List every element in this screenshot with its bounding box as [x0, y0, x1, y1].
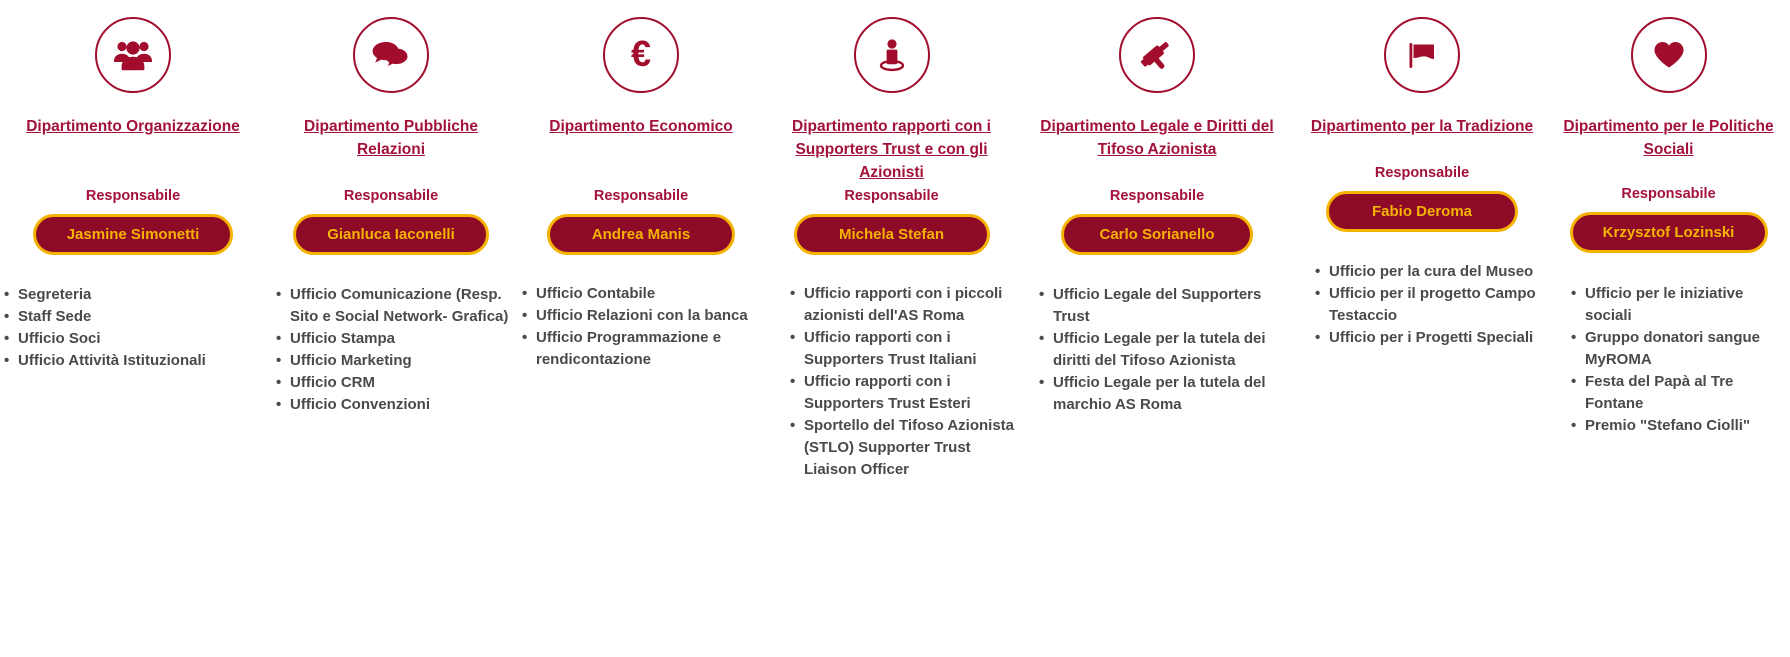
list-item: Ufficio per i Progetti Speciali [1313, 327, 1541, 349]
department-column-legale: Dipartimento Legale e Diritti del Tifoso… [1017, 0, 1297, 657]
manager-pill-3[interactable]: Andrea Manis [547, 214, 735, 255]
list-item: Ufficio Programmazione e rendicontazione [520, 327, 764, 371]
offices-list-3: Ufficio Contabile Ufficio Relazioni con … [516, 283, 766, 371]
responsabile-label-2: Responsabile [266, 187, 516, 205]
speech-bubbles-icon [353, 17, 429, 93]
icon-wrap-1 [0, 0, 266, 110]
offices-list-6: Ufficio per la cura del Museo Ufficio pe… [1297, 261, 1547, 349]
responsabile-label-6: Responsabile [1297, 164, 1547, 182]
responsabile-label-1: Responsabile [0, 187, 266, 205]
responsabile-label-7: Responsabile [1547, 185, 1790, 203]
people-group-icon [95, 17, 171, 93]
department-column-supporters-trust: Dipartimento rapporti con i Supporters T… [766, 0, 1017, 657]
list-item: Ufficio Legale per la tutela del marchio… [1037, 372, 1289, 416]
list-item: Ufficio Convenzioni [274, 394, 510, 416]
list-item: Ufficio Soci [2, 328, 266, 350]
department-link-2[interactable]: Dipartimento Pubbliche Relazioni [266, 115, 516, 161]
department-link-4[interactable]: Dipartimento rapporti con i Supporters T… [766, 115, 1017, 184]
list-item: Premio "Stefano Ciolli" [1569, 415, 1790, 437]
responsabile-label-4: Responsabile [766, 187, 1017, 205]
manager-pill-1[interactable]: Jasmine Simonetti [33, 214, 233, 255]
department-link-6[interactable]: Dipartimento per la Tradizione [1297, 115, 1547, 138]
svg-text:€: € [631, 35, 651, 74]
list-item: Ufficio Stampa [274, 328, 510, 350]
euro-icon: € [603, 17, 679, 93]
responsabile-label-3: Responsabile [516, 187, 766, 205]
list-item: Ufficio Legale per la tutela dei diritti… [1037, 328, 1289, 372]
flag-icon [1384, 17, 1460, 93]
department-link-3[interactable]: Dipartimento Economico [516, 115, 766, 138]
gavel-icon [1119, 17, 1195, 93]
department-link-1[interactable]: Dipartimento Organizzazione [0, 115, 266, 138]
list-item: Ufficio Marketing [274, 350, 510, 372]
offices-list-4: Ufficio rapporti con i piccoli azionisti… [766, 283, 1017, 481]
list-item: Ufficio Legale del Supporters Trust [1037, 284, 1289, 328]
department-column-politiche-sociali: Dipartimento per le Politiche Sociali Re… [1547, 0, 1790, 657]
list-item: Ufficio CRM [274, 372, 510, 394]
list-item: Staff Sede [2, 306, 266, 328]
list-item: Sportello del Tifoso Azionista (STLO) Su… [788, 415, 1015, 481]
department-link-5[interactable]: Dipartimento Legale e Diritti del Tifoso… [1017, 115, 1297, 161]
list-item: Ufficio rapporti con i Supporters Trust … [788, 327, 1015, 371]
department-column-pubbliche-relazioni: Dipartimento Pubbliche Relazioni Respons… [266, 0, 516, 657]
manager-pill-6[interactable]: Fabio Deroma [1326, 191, 1518, 232]
list-item: Ufficio Comunicazione (Resp. Sito e Soci… [274, 284, 510, 328]
icon-wrap-2 [266, 0, 516, 110]
department-column-organizzazione: Dipartimento Organizzazione Responsabile… [0, 0, 266, 657]
list-item: Ufficio Attività Istituzionali [2, 350, 266, 372]
offices-list-7: Ufficio per le iniziative sociali Gruppo… [1547, 283, 1790, 437]
manager-pill-4[interactable]: Michela Stefan [794, 214, 990, 255]
icon-wrap-3: € [516, 0, 766, 110]
offices-list-1: Segreteria Staff Sede Ufficio Soci Uffic… [0, 284, 266, 372]
department-column-economico: € Dipartimento Economico Responsabile An… [516, 0, 766, 657]
heart-icon [1631, 17, 1707, 93]
person-on-platform-icon [854, 17, 930, 93]
list-item: Ufficio Contabile [520, 283, 764, 305]
icon-wrap-7 [1547, 0, 1790, 110]
list-item: Ufficio per il progetto Campo Testaccio [1313, 283, 1541, 327]
responsabile-label-5: Responsabile [1017, 187, 1297, 205]
list-item: Festa del Papà al Tre Fontane [1569, 371, 1790, 415]
icon-wrap-6 [1297, 0, 1547, 110]
list-item: Ufficio per le iniziative sociali [1569, 283, 1790, 327]
offices-list-5: Ufficio Legale del Supporters Trust Uffi… [1017, 284, 1297, 416]
list-item: Ufficio rapporti con i piccoli azionisti… [788, 283, 1015, 327]
manager-pill-5[interactable]: Carlo Sorianello [1061, 214, 1253, 255]
department-column-tradizione: Dipartimento per la Tradizione Responsab… [1297, 0, 1547, 657]
list-item: Gruppo donatori sangue MyROMA [1569, 327, 1790, 371]
icon-wrap-4 [766, 0, 1017, 110]
departments-board: Dipartimento Organizzazione Responsabile… [0, 0, 1790, 657]
list-item: Ufficio Relazioni con la banca [520, 305, 764, 327]
manager-pill-7[interactable]: Krzysztof Lozinski [1570, 212, 1768, 253]
offices-list-2: Ufficio Comunicazione (Resp. Sito e Soci… [266, 284, 516, 416]
list-item: Ufficio per la cura del Museo [1313, 261, 1541, 283]
icon-wrap-5 [1017, 0, 1297, 110]
list-item: Segreteria [2, 284, 266, 306]
manager-pill-2[interactable]: Gianluca Iaconelli [293, 214, 489, 255]
list-item: Ufficio rapporti con i Supporters Trust … [788, 371, 1015, 415]
department-link-7[interactable]: Dipartimento per le Politiche Sociali [1547, 115, 1790, 161]
